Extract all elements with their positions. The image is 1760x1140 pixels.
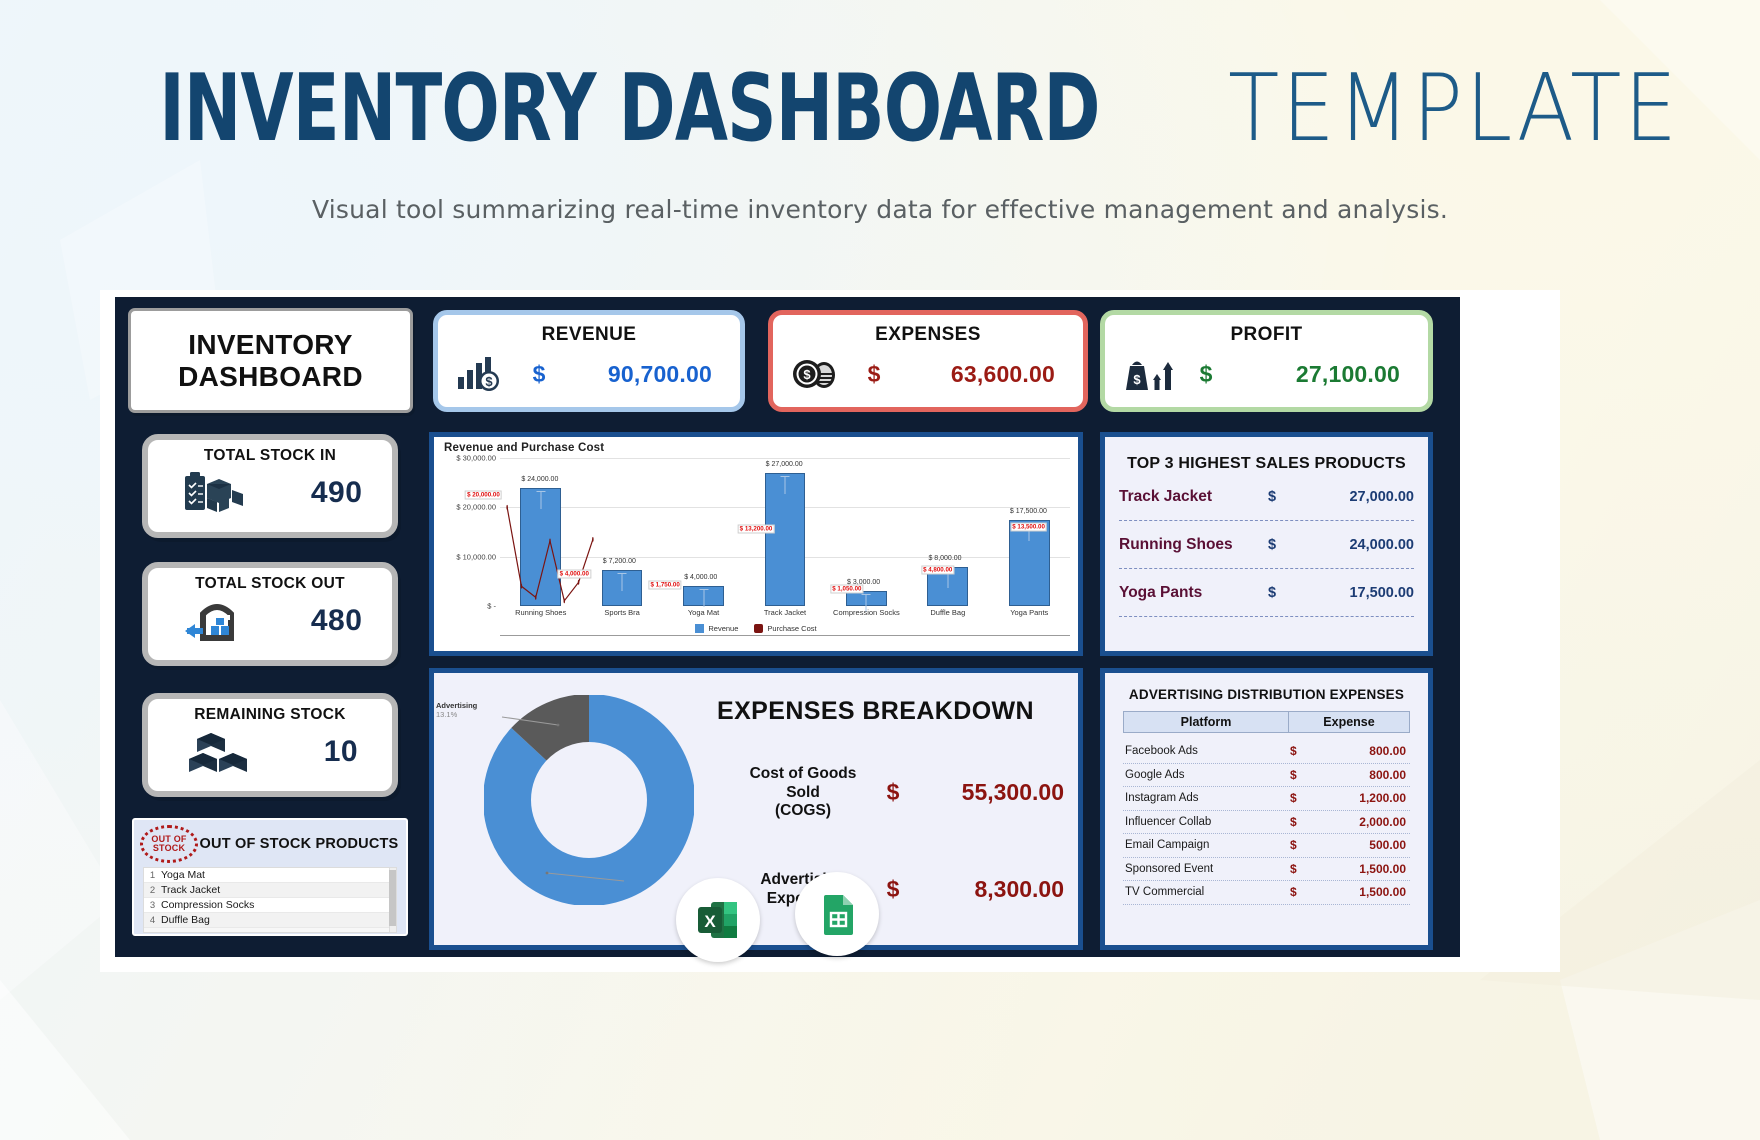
line-marker bbox=[521, 584, 523, 589]
out-of-stock-panel: OUT OF STOCK OUT OF STOCK PRODUCTS 1 Yog… bbox=[132, 818, 408, 936]
expense-item-cogs: Cost of Goods Sold (COGS) $ 55,300.00 bbox=[734, 765, 1064, 821]
chart-plot-area: $ 30,000.00$ 20,000.00$ 10,000.00$ - $ 2… bbox=[438, 458, 1074, 636]
kpi-card-revenue[interactable]: REVENUE $ $ 90,700.00 bbox=[433, 310, 745, 412]
stamp-line-2: STOCK bbox=[153, 844, 185, 853]
brand-line-1: INVENTORY bbox=[178, 329, 363, 360]
bar-revenue: $ 3,000.00 bbox=[846, 591, 887, 606]
cell-expense: 500.00 bbox=[1316, 838, 1410, 852]
table-row: Facebook Ads$800.00 bbox=[1123, 740, 1410, 764]
table-row: Running Shoes $ 24,000.00 bbox=[1105, 521, 1428, 568]
line-marker bbox=[506, 505, 508, 510]
cell-expense: 1,500.00 bbox=[1316, 885, 1410, 899]
stock-out-row: 480 bbox=[148, 595, 392, 647]
advertising-table: Platform Expense Facebook Ads$800.00Goog… bbox=[1123, 711, 1410, 905]
kpi-revenue-label: REVENUE bbox=[438, 324, 740, 346]
list-item-label: Duffle Bag bbox=[161, 914, 210, 926]
line-value-label: $ 4,800.00 bbox=[921, 566, 954, 575]
x-axis-labels: Running ShoesSports BraYoga MatTrack Jac… bbox=[500, 608, 1070, 617]
table-row: Yoga Pants $ 17,500.00 bbox=[1105, 569, 1428, 616]
error-bar-cap bbox=[699, 589, 708, 590]
svg-text:$: $ bbox=[485, 374, 493, 389]
line-series-purchase-cost bbox=[507, 507, 593, 600]
coins-stack-icon: $ bbox=[787, 353, 845, 395]
y-axis: $ 30,000.00$ 20,000.00$ 10,000.00$ - bbox=[438, 458, 500, 606]
kpi-revenue-currency: $ bbox=[510, 361, 568, 388]
error-bar bbox=[622, 573, 623, 591]
stock-out-value: 480 bbox=[311, 604, 363, 638]
legend-label-purchase-cost: Purchase Cost bbox=[767, 624, 816, 633]
x-axis-tick-label: Compression Socks bbox=[826, 608, 907, 617]
y-axis-tick: $ - bbox=[487, 602, 496, 611]
scrollbar-thumb[interactable] bbox=[389, 870, 396, 926]
bar-value-label: $ 27,000.00 bbox=[766, 461, 803, 468]
cell-expense: 800.00 bbox=[1316, 768, 1410, 782]
list-item[interactable]: 1 Yoga Mat bbox=[144, 868, 396, 883]
out-of-stock-stamp-icon: OUT OF STOCK bbox=[140, 825, 198, 863]
bar-revenue: $ 4,000.00 bbox=[683, 586, 724, 606]
cell-currency: $ bbox=[1290, 815, 1316, 829]
remaining-stock-label: REMAINING STOCK bbox=[148, 706, 392, 724]
donut-annotation-name: Advertising bbox=[436, 701, 477, 710]
error-bar bbox=[784, 476, 785, 494]
stock-in-row: 490 bbox=[148, 467, 392, 519]
remaining-stock-value: 10 bbox=[324, 735, 358, 769]
line-value-label: $ 1,050.00 bbox=[830, 584, 863, 593]
list-item-label: Compression Socks bbox=[161, 899, 254, 911]
top-3-title: TOP 3 HIGHEST SALES PRODUCTS bbox=[1105, 455, 1428, 473]
out-of-stock-header: OUT OF STOCK OUT OF STOCK PRODUCTS bbox=[134, 820, 406, 865]
bar-revenue: $ 27,000.00 bbox=[765, 473, 806, 606]
list-item[interactable]: 3 Compression Socks bbox=[144, 898, 396, 913]
expense-item-cogs-value: 55,300.00 bbox=[914, 779, 1064, 806]
chart-legend: Revenue Purchase Cost bbox=[438, 624, 1074, 633]
expenses-breakdown-title: EXPENSES BREAKDOWN bbox=[717, 697, 1034, 726]
expense-item-cogs-label: Cost of Goods Sold (COGS) bbox=[734, 765, 872, 821]
legend-swatch-revenue bbox=[695, 624, 704, 633]
bar-revenue: $ 17,500.00 bbox=[1009, 520, 1050, 606]
top-3-currency: $ bbox=[1268, 537, 1302, 553]
table-row: Instagram Ads$1,200.00 bbox=[1123, 787, 1410, 811]
advertising-table-body: Facebook Ads$800.00Google Ads$800.00Inst… bbox=[1123, 740, 1410, 905]
out-of-stock-title: OUT OF STOCK PRODUCTS bbox=[198, 836, 400, 852]
cell-platform: Google Ads bbox=[1123, 769, 1290, 781]
column-header-expense: Expense bbox=[1289, 712, 1409, 732]
kpi-profit-row: $ $ 27,100.00 bbox=[1105, 353, 1428, 395]
top-3-currency: $ bbox=[1268, 489, 1302, 505]
brand-line-2: DASHBOARD bbox=[178, 361, 363, 392]
cell-currency: $ bbox=[1290, 838, 1316, 852]
y-axis-tick: $ 30,000.00 bbox=[456, 454, 496, 463]
x-axis-tick-label: Yoga Pants bbox=[989, 608, 1070, 617]
cell-platform: TV Commercial bbox=[1123, 886, 1290, 898]
top-3-value: 27,000.00 bbox=[1302, 489, 1414, 505]
line-marker bbox=[535, 595, 537, 600]
kpi-profit-currency: $ bbox=[1177, 361, 1235, 388]
clipboard-boxes-icon bbox=[178, 467, 252, 519]
legend-item-purchase-cost: Purchase Cost bbox=[754, 624, 816, 633]
svg-text:$: $ bbox=[803, 367, 811, 382]
table-row: Google Ads$800.00 bbox=[1123, 764, 1410, 788]
line-marker bbox=[564, 598, 566, 603]
page-title: INVENTORY DASHBOARDTEMPLATE bbox=[0, 62, 1760, 155]
divider bbox=[1119, 616, 1414, 617]
bar-revenue: $ 7,200.00 bbox=[602, 570, 643, 606]
stock-card-total-stock-in[interactable]: TOTAL STOCK IN 490 bbox=[142, 434, 398, 538]
donut-annotation-pct: 13.1% bbox=[436, 710, 457, 719]
cell-currency: $ bbox=[1290, 885, 1316, 899]
x-axis-tick-label: Yoga Mat bbox=[663, 608, 744, 617]
chart-bar-column: $ 17,500.00 bbox=[989, 458, 1070, 606]
stock-in-value: 490 bbox=[311, 476, 363, 510]
donut-slice-annotation: Advertising 13.1% bbox=[436, 701, 477, 720]
page-title-thin: TEMPLATE bbox=[1228, 62, 1680, 155]
kpi-revenue-value: 90,700.00 bbox=[568, 361, 726, 388]
list-scrollbar[interactable] bbox=[389, 868, 396, 932]
kpi-profit-value: 27,100.00 bbox=[1235, 361, 1414, 388]
list-item-index: 3 bbox=[144, 900, 161, 911]
line-marker bbox=[578, 580, 580, 585]
top-3-product-name: Yoga Pants bbox=[1119, 584, 1268, 602]
stacked-cubes-icon bbox=[182, 726, 256, 778]
cell-platform: Email Campaign bbox=[1123, 839, 1290, 851]
expense-item-advertising: Advertising Expenses $ 8,300.00 bbox=[734, 871, 1064, 908]
kpi-expenses-label: EXPENSES bbox=[773, 324, 1083, 346]
bar-value-label: $ 7,200.00 bbox=[603, 558, 636, 565]
page-header: INVENTORY DASHBOARDTEMPLATE Visual tool … bbox=[0, 62, 1760, 224]
revenue-purchase-chart-panel: Revenue and Purchase Cost $ 30,000.00$ 2… bbox=[429, 432, 1083, 656]
cell-platform: Facebook Ads bbox=[1123, 745, 1290, 757]
top-3-products-panel: TOP 3 HIGHEST SALES PRODUCTS Track Jacke… bbox=[1100, 432, 1433, 656]
cell-currency: $ bbox=[1290, 862, 1316, 876]
table-row: Email Campaign$500.00 bbox=[1123, 834, 1410, 858]
svg-text:X: X bbox=[704, 912, 716, 931]
cell-platform: Instagram Ads bbox=[1123, 792, 1290, 804]
cell-expense: 1,200.00 bbox=[1316, 791, 1410, 805]
kpi-card-expenses[interactable]: EXPENSES $ $ 63,600.00 bbox=[768, 310, 1088, 412]
table-row: Track Jacket $ 27,000.00 bbox=[1105, 473, 1428, 520]
bar-value-label: $ 17,500.00 bbox=[1010, 508, 1047, 515]
cell-platform: Influencer Collab bbox=[1123, 816, 1290, 828]
stock-in-label: TOTAL STOCK IN bbox=[148, 447, 392, 465]
table-row: Sponsored Event$1,500.00 bbox=[1123, 858, 1410, 882]
cell-currency: $ bbox=[1290, 744, 1316, 758]
bar-value-label: $ 8,000.00 bbox=[928, 555, 961, 562]
cogs-label-line-1: Cost of Goods Sold bbox=[734, 765, 872, 802]
cell-expense: 1,500.00 bbox=[1316, 862, 1410, 876]
table-row: Influencer Collab$2,000.00 bbox=[1123, 811, 1410, 835]
cell-expense: 800.00 bbox=[1316, 744, 1410, 758]
advertising-expenses-panel: ADVERTISING DISTRIBUTION EXPENSES Platfo… bbox=[1100, 668, 1433, 950]
bar-value-label: $ 4,000.00 bbox=[684, 574, 717, 581]
cell-expense: 2,000.00 bbox=[1316, 815, 1410, 829]
kpi-expenses-currency: $ bbox=[845, 361, 903, 388]
line-value-label: $ 13,500.00 bbox=[1010, 523, 1047, 532]
y-axis-tick: $ 20,000.00 bbox=[456, 503, 496, 512]
cell-currency: $ bbox=[1290, 768, 1316, 782]
cell-platform: Sponsored Event bbox=[1123, 863, 1290, 875]
expense-item-advertising-value: 8,300.00 bbox=[914, 876, 1064, 903]
top-3-product-name: Track Jacket bbox=[1119, 488, 1268, 506]
list-item-index: 4 bbox=[144, 915, 161, 926]
x-axis-tick-label: Running Shoes bbox=[500, 608, 581, 617]
out-of-stock-list[interactable]: 1 Yoga Mat 2 Track Jacket 3 Compression … bbox=[143, 867, 397, 933]
x-axis-tick-label: Duffle Bag bbox=[907, 608, 988, 617]
expense-item-cogs-currency: $ bbox=[872, 779, 914, 806]
error-bar-cap bbox=[862, 594, 871, 595]
top-3-currency: $ bbox=[1268, 585, 1302, 601]
brand-title: INVENTORY DASHBOARD bbox=[178, 329, 363, 392]
list-item-index: 2 bbox=[144, 885, 161, 896]
top-3-value: 24,000.00 bbox=[1302, 537, 1414, 553]
error-bar-cap bbox=[618, 573, 627, 574]
legend-item-revenue: Revenue bbox=[695, 624, 738, 633]
x-axis-tick-label: Sports Bra bbox=[581, 608, 662, 617]
x-axis-line bbox=[500, 635, 1070, 636]
line-value-label: $ 1,750.00 bbox=[649, 581, 682, 590]
x-axis-tick-label: Track Jacket bbox=[744, 608, 825, 617]
list-item[interactable]: 2 Track Jacket bbox=[144, 883, 396, 898]
brand-card: INVENTORY DASHBOARD bbox=[128, 308, 413, 413]
kpi-revenue-row: $ $ 90,700.00 bbox=[438, 353, 740, 395]
top-3-product-name: Running Shoes bbox=[1119, 536, 1268, 554]
money-bag-growth-icon: $ bbox=[1119, 353, 1177, 395]
kpi-expenses-value: 63,600.00 bbox=[903, 361, 1069, 388]
stock-out-label: TOTAL STOCK OUT bbox=[148, 575, 392, 593]
page-subtitle: Visual tool summarizing real-time invent… bbox=[0, 195, 1760, 224]
list-item-label: Track Jacket bbox=[161, 884, 220, 896]
error-bar bbox=[703, 589, 704, 607]
legend-label-revenue: Revenue bbox=[708, 624, 738, 633]
sheets-icon[interactable] bbox=[795, 872, 879, 956]
cogs-label-line-2: (COGS) bbox=[734, 802, 872, 821]
top-3-value: 17,500.00 bbox=[1302, 585, 1414, 601]
warehouse-outbound-icon bbox=[178, 595, 252, 647]
svg-text:$: $ bbox=[1133, 372, 1141, 387]
line-marker bbox=[549, 538, 551, 543]
list-item-index: 1 bbox=[144, 870, 161, 881]
bar-chart-money-icon: $ bbox=[452, 353, 510, 395]
table-header-row: Platform Expense bbox=[1123, 711, 1410, 733]
line-value-label: $ 13,200.00 bbox=[738, 524, 775, 533]
advertising-title: ADVERTISING DISTRIBUTION EXPENSES bbox=[1105, 687, 1428, 702]
column-header-platform: Platform bbox=[1124, 712, 1289, 732]
line-marker bbox=[592, 537, 594, 542]
stock-card-remaining-stock[interactable]: REMAINING STOCK 10 bbox=[142, 693, 398, 797]
chart-bar-column: $ 8,000.00 bbox=[907, 458, 988, 606]
line-value-label: $ 20,000.00 bbox=[465, 491, 502, 500]
chart-title: Revenue and Purchase Cost bbox=[434, 437, 1078, 454]
remaining-stock-row: 10 bbox=[148, 726, 392, 778]
cell-currency: $ bbox=[1290, 791, 1316, 805]
page-title-bold: INVENTORY DASHBOARD bbox=[159, 62, 1099, 155]
list-item[interactable]: 4 Duffle Bag bbox=[144, 913, 396, 928]
table-row: TV Commercial$1,500.00 bbox=[1123, 881, 1410, 905]
stock-card-total-stock-out[interactable]: TOTAL STOCK OUT 480 bbox=[142, 562, 398, 666]
error-bar-cap bbox=[780, 476, 789, 477]
kpi-expenses-row: $ $ 63,600.00 bbox=[773, 353, 1083, 395]
excel-icon[interactable]: X bbox=[676, 878, 760, 962]
list-item-label: Yoga Mat bbox=[161, 869, 205, 881]
expense-item-advertising-currency: $ bbox=[872, 876, 914, 903]
expenses-donut-chart: Advertising 13.1% bbox=[484, 695, 694, 905]
purchase-cost-line bbox=[500, 458, 600, 606]
y-axis-tick: $ 10,000.00 bbox=[456, 552, 496, 561]
line-value-label: $ 4,000.00 bbox=[558, 570, 591, 579]
kpi-card-profit[interactable]: PROFIT $ $ 27,100.00 bbox=[1100, 310, 1433, 412]
legend-swatch-purchase-cost bbox=[754, 624, 763, 633]
kpi-profit-label: PROFIT bbox=[1105, 324, 1428, 346]
